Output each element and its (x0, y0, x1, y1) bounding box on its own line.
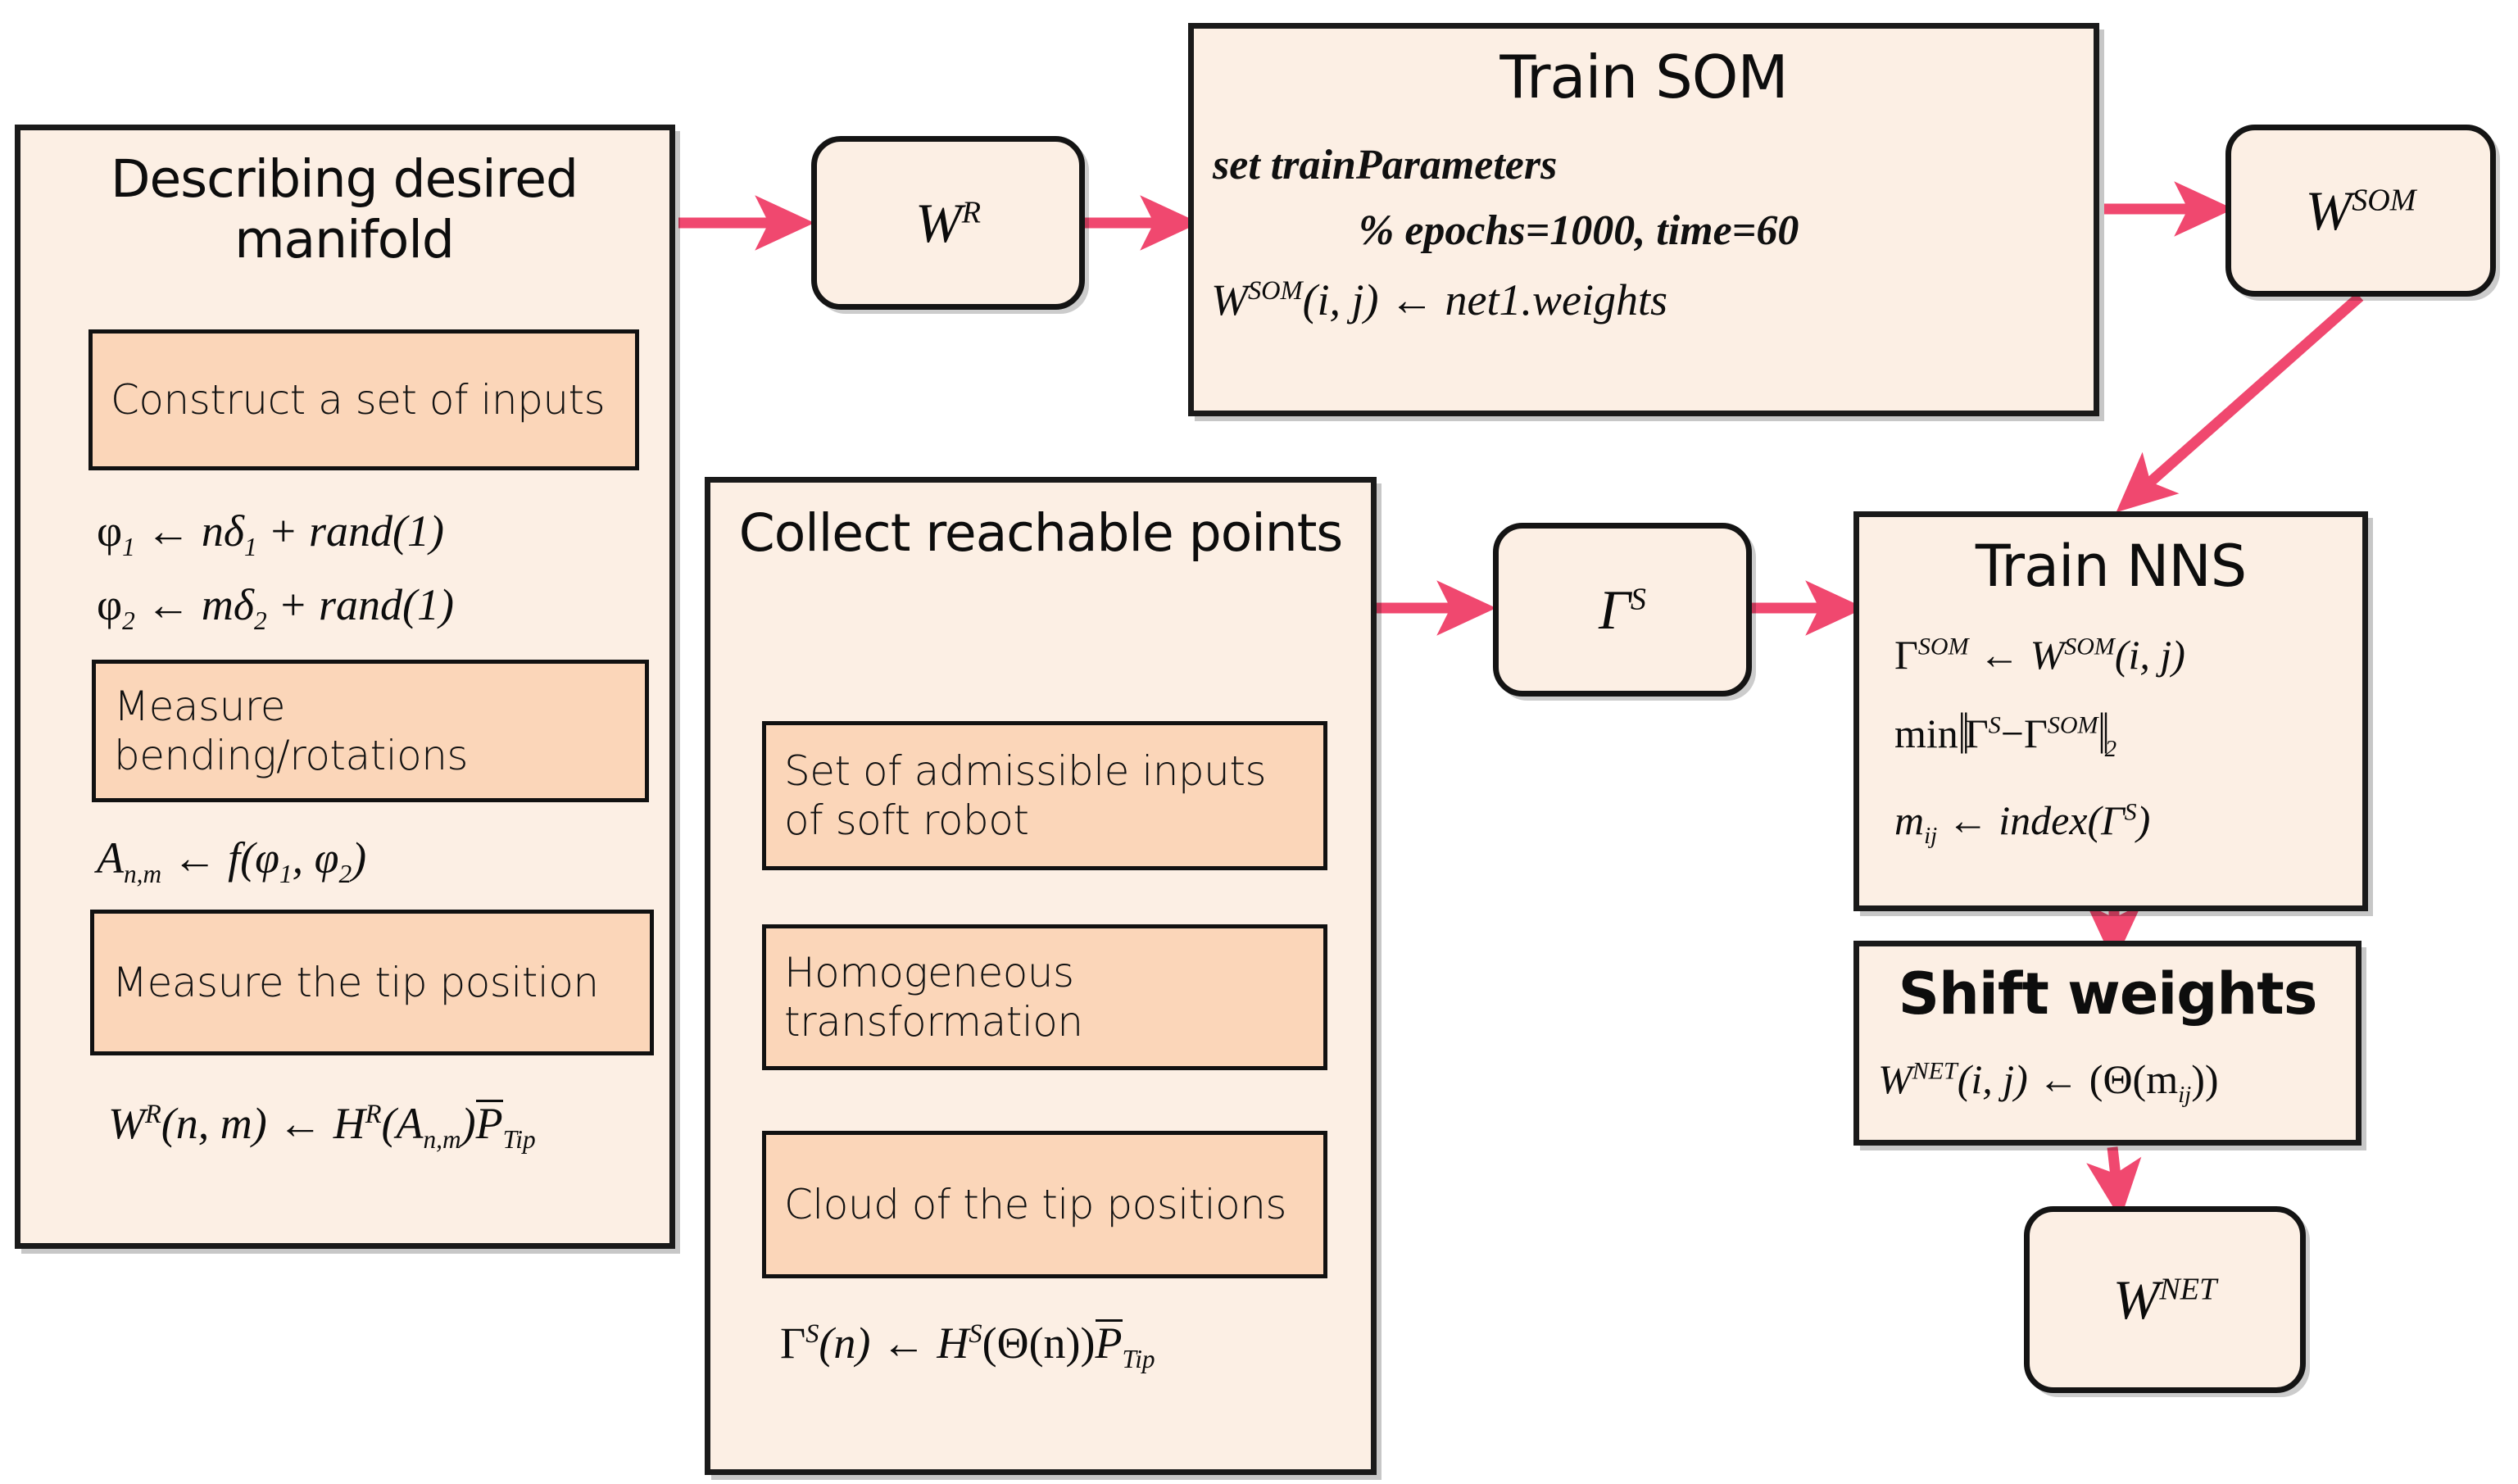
formula-min-norm: min‖ΓS−ΓSOM‖2 (1894, 710, 2116, 763)
token-gamma-s-text: ΓS (1599, 578, 1646, 642)
step-construct-inputs: Construct a set of inputs (88, 329, 639, 470)
step-measure-bending-label: Measure bending/rotations (96, 682, 645, 780)
arrow-wsom-to-trainnns (2132, 297, 2360, 498)
step-measure-tip-position-label: Measure the tip position (94, 958, 612, 1007)
shift-weights-title: Shift weights (1853, 960, 2361, 1028)
token-wr-text: WR (915, 191, 981, 256)
train-som-title: Train SOM (1188, 43, 2099, 112)
diagram-canvas: g Describing desired manifold Construct … (0, 0, 2518, 1484)
formula-mij-index: mij ← index(ΓS) (1894, 796, 2150, 850)
formula-gammas-equation: ΓS(n) ← HS(Θ(n))PTip (780, 1318, 1155, 1374)
formula-anm: An,m ← f(φ1, φ2) (97, 833, 366, 889)
step-measure-bending: Measure bending/rotations (92, 660, 649, 802)
token-wnet-text: WNET (2113, 1268, 2217, 1332)
token-wsom: WSOM (2225, 125, 2496, 297)
formula-phi1: φ1 ← nδ1 + rand(1) (97, 506, 444, 562)
train-som-code-line-1: set trainParameters (1213, 141, 1557, 189)
train-nns-title: Train NNS (1853, 533, 2368, 601)
token-gamma-s: ΓS (1493, 523, 1752, 697)
arrow-shiftweights-to-wnet (2112, 1147, 2118, 1198)
describing-manifold-title: Describing desired manifold (57, 149, 631, 271)
step-cloud-tip-positions-label: Cloud of the tip positions (766, 1180, 1300, 1229)
token-wsom-text: WSOM (2306, 179, 2416, 243)
step-homogeneous-transformation-label: Homogeneous transformation (766, 948, 1323, 1046)
step-cloud-tip-positions: Cloud of the tip positions (762, 1131, 1327, 1278)
step-measure-tip-position: Measure the tip position (90, 910, 654, 1055)
step-admissible-inputs-label: Set of admissible inputs of soft robot (766, 747, 1323, 845)
formula-wsom-equation: WSOM(i, j) ← net1.weights (1211, 275, 1667, 325)
step-homogeneous-transformation: Homogeneous transformation (762, 924, 1327, 1070)
step-construct-inputs-label: Construct a set of inputs (93, 375, 618, 424)
formula-wnet-equation: WNET(i, j) ← (Θ(mij)) (1878, 1055, 2219, 1109)
collect-points-title: Collect reachable points (729, 503, 1352, 564)
token-wr: WR (811, 136, 1085, 310)
formula-wr-equation: WR(n, m) ← HR(An,m)PTip (108, 1098, 536, 1155)
formula-phi2: φ2 ← mδ2 + rand(1) (97, 579, 454, 636)
token-wnet: WNET (2024, 1206, 2306, 1393)
train-som-code-line-2: % epochs=1000, time=60 (1359, 206, 1799, 255)
step-admissible-inputs: Set of admissible inputs of soft robot (762, 721, 1327, 870)
formula-gamma-som: ΓSOM ← WSOM(i, j) (1894, 631, 2185, 678)
